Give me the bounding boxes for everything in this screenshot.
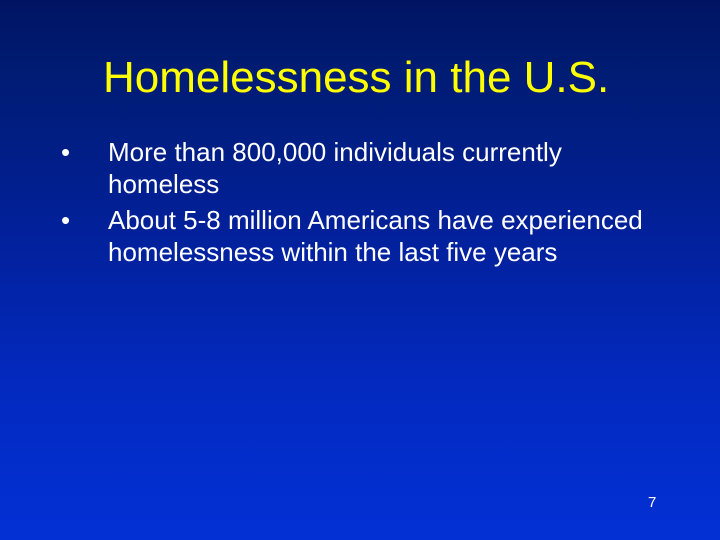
list-item-label: About 5-8 million Americans have experie… bbox=[108, 204, 660, 268]
slide-number: 7 bbox=[648, 494, 656, 512]
list-item-label: More than 800,000 individuals currently … bbox=[108, 136, 660, 200]
presentation-slide: Homelessness in the U.S. • More than 800… bbox=[0, 0, 720, 540]
bullet-point-icon: • bbox=[54, 204, 108, 236]
page-title: Homelessness in the U.S. bbox=[103, 52, 643, 104]
bullet-list: • More than 800,000 individuals currentl… bbox=[54, 136, 674, 272]
list-item: • More than 800,000 individuals currentl… bbox=[54, 136, 674, 200]
list-item: • About 5-8 million Americans have exper… bbox=[54, 204, 674, 268]
bullet-point-icon: • bbox=[54, 136, 108, 168]
